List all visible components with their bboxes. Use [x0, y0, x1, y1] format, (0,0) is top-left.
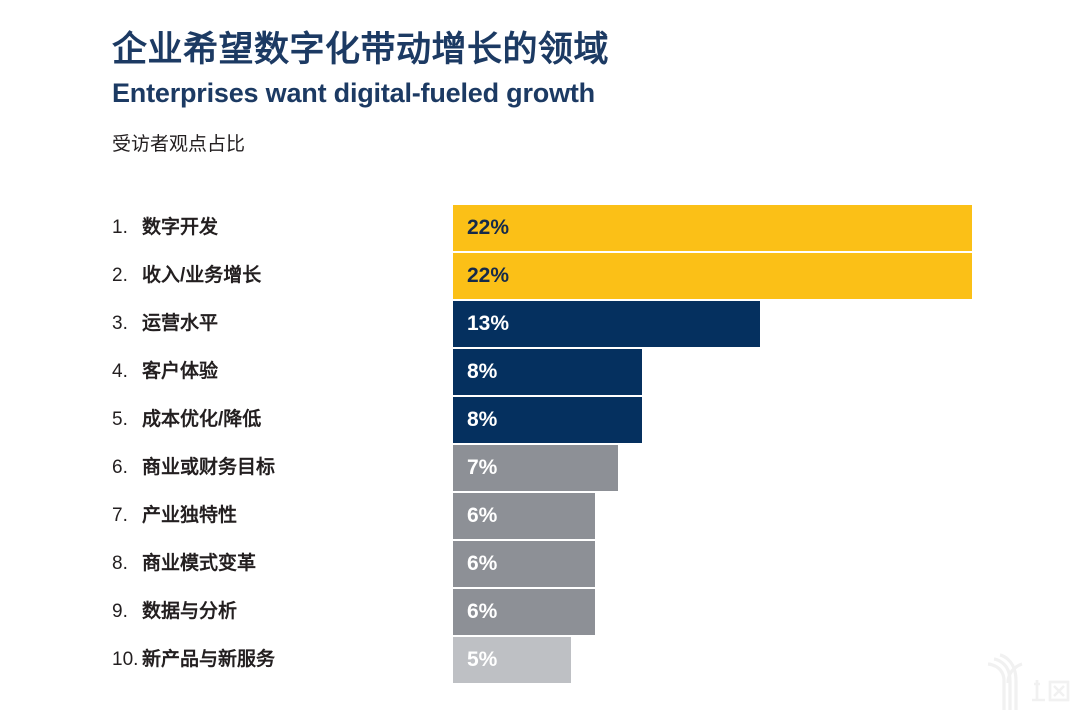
bar-row-category: 数据与分析: [142, 601, 237, 622]
bar-row-rank: 4.: [112, 349, 142, 395]
bar-row-category: 新产品与新服务: [142, 649, 275, 670]
slide-canvas: 企业希望数字化带动增长的领域 Enterprises want digital-…: [0, 0, 1080, 718]
bar-row: 9.数据与分析6%: [0, 589, 1080, 637]
bar-row-category: 商业模式变革: [142, 553, 256, 574]
bar-value-label: 5%: [467, 637, 497, 683]
page-title-chinese: 企业希望数字化带动增长的领域: [112, 28, 992, 72]
bar-row-label: 5.成本优化/降低: [112, 397, 261, 443]
bar-row: 1.数字开发22%: [0, 205, 1080, 253]
bar-row-category: 收入/业务增长: [142, 265, 261, 286]
bar-value-label: 8%: [467, 397, 497, 443]
bar-row-category: 运营水平: [142, 313, 218, 334]
bar-value-label: 13%: [467, 301, 509, 347]
bar-row-rank: 1.: [112, 205, 142, 251]
bar: 8%: [453, 349, 642, 395]
bar-row-rank: 6.: [112, 445, 142, 491]
bar: 6%: [453, 541, 595, 587]
bar-row-category: 商业或财务目标: [142, 457, 275, 478]
bar-row-rank: 2.: [112, 253, 142, 299]
chart-header: 企业希望数字化带动增长的领域 Enterprises want digital-…: [112, 28, 992, 158]
bar: 6%: [453, 589, 595, 635]
bar-value-label: 7%: [467, 445, 497, 491]
bar-value-label: 22%: [467, 253, 509, 299]
bar-row-label: 6.商业或财务目标: [112, 445, 275, 491]
bar-row-rank: 9.: [112, 589, 142, 635]
bar-row-rank: 8.: [112, 541, 142, 587]
bar-row-rank: 10.: [112, 637, 142, 683]
bar: 7%: [453, 445, 618, 491]
bar: 6%: [453, 493, 595, 539]
horizontal-bar-chart: 1.数字开发22%2.收入/业务增长22%3.运营水平13%4.客户体验8%5.…: [0, 205, 1080, 685]
bar-row-rank: 3.: [112, 301, 142, 347]
bar-row: 3.运营水平13%: [0, 301, 1080, 349]
bar-row: 4.客户体验8%: [0, 349, 1080, 397]
bar-row-rank: 7.: [112, 493, 142, 539]
bar-row: 10.新产品与新服务5%: [0, 637, 1080, 685]
bar-value-label: 8%: [467, 349, 497, 395]
bar-row-category: 产业独特性: [142, 505, 237, 526]
bar: 5%: [453, 637, 571, 683]
bar-row-label: 3.运营水平: [112, 301, 218, 347]
bar-value-label: 6%: [467, 541, 497, 587]
bar-row-category: 客户体验: [142, 361, 218, 382]
bar-row: 8.商业模式变革6%: [0, 541, 1080, 589]
bar-value-label: 6%: [467, 493, 497, 539]
bar: 13%: [453, 301, 760, 347]
bar-row: 7.产业独特性6%: [0, 493, 1080, 541]
bar-row: 6.商业或财务目标7%: [0, 445, 1080, 493]
bar: 22%: [453, 205, 972, 251]
bar-row: 2.收入/业务增长22%: [0, 253, 1080, 301]
chart-subtitle: 受访者观点占比: [112, 132, 992, 158]
bar-row-label: 4.客户体验: [112, 349, 218, 395]
bar-row-category: 成本优化/降低: [142, 409, 261, 430]
bar: 22%: [453, 253, 972, 299]
bar-row-label: 2.收入/业务增长: [112, 253, 261, 299]
bar-row-category: 数字开发: [142, 217, 218, 238]
bar-row-label: 7.产业独特性: [112, 493, 237, 539]
bar-row-label: 9.数据与分析: [112, 589, 237, 635]
bar-value-label: 6%: [467, 589, 497, 635]
bar-row-label: 1.数字开发: [112, 205, 218, 251]
bar-row-rank: 5.: [112, 397, 142, 443]
bar-row-label: 10.新产品与新服务: [112, 637, 275, 683]
bar: 8%: [453, 397, 642, 443]
page-title-english: Enterprises want digital-fueled growth: [112, 76, 992, 110]
bar-row: 5.成本优化/降低8%: [0, 397, 1080, 445]
bar-row-label: 8.商业模式变革: [112, 541, 256, 587]
bar-value-label: 22%: [467, 205, 509, 251]
